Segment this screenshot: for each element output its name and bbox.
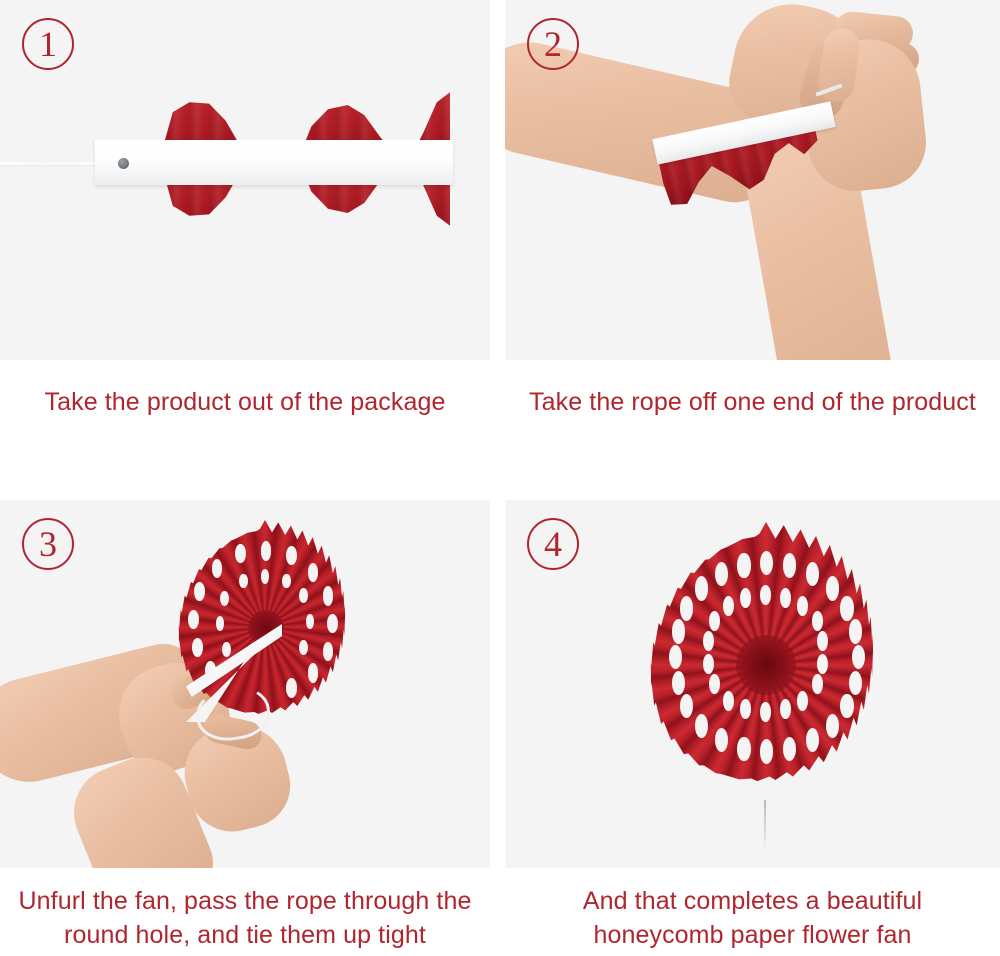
step-3-photo — [0, 500, 490, 868]
caption-line: honeycomb paper flower fan — [505, 918, 1000, 952]
step-number-badge-4: 4 — [527, 518, 579, 570]
step-number-badge-2: 2 — [527, 18, 579, 70]
step-number-label: 4 — [544, 526, 562, 562]
step-number-badge-3: 3 — [22, 518, 74, 570]
caption-line: And that completes a beautiful — [505, 884, 1000, 918]
caption-line: Unfurl the fan, pass the rope through th… — [0, 884, 490, 918]
caption-line: Take the product out of the package — [0, 385, 490, 419]
step-number-label: 1 — [39, 26, 57, 62]
step-2-photo — [505, 0, 1000, 360]
step-number-label: 3 — [39, 526, 57, 562]
white-cardboard-strip — [95, 140, 453, 185]
step-number-badge-1: 1 — [22, 18, 74, 70]
grommet-hole-icon — [118, 158, 129, 169]
instruction-sheet: 1 2 — [0, 0, 1000, 956]
step-caption-2: Take the rope off one end of the product — [505, 385, 1000, 419]
step-1-photo — [0, 0, 490, 360]
caption-line: round hole, and tie them up tight — [0, 918, 490, 952]
fan-center-hub — [736, 635, 796, 695]
step-panel-3: 3 — [0, 500, 490, 868]
step-panel-1: 1 — [0, 0, 490, 360]
caption-line: Take the rope off one end of the product — [505, 385, 1000, 419]
finished-paper-fan — [623, 522, 909, 808]
step-caption-1: Take the product out of the package — [0, 385, 490, 419]
step-number-label: 2 — [544, 26, 562, 62]
step-panel-2: 2 — [505, 0, 1000, 360]
step-4-photo — [505, 500, 1000, 868]
step-caption-3: Unfurl the fan, pass the rope through th… — [0, 884, 490, 952]
step-caption-4: And that completes a beautiful honeycomb… — [505, 884, 1000, 952]
step-panel-4: 4 — [505, 500, 1000, 868]
